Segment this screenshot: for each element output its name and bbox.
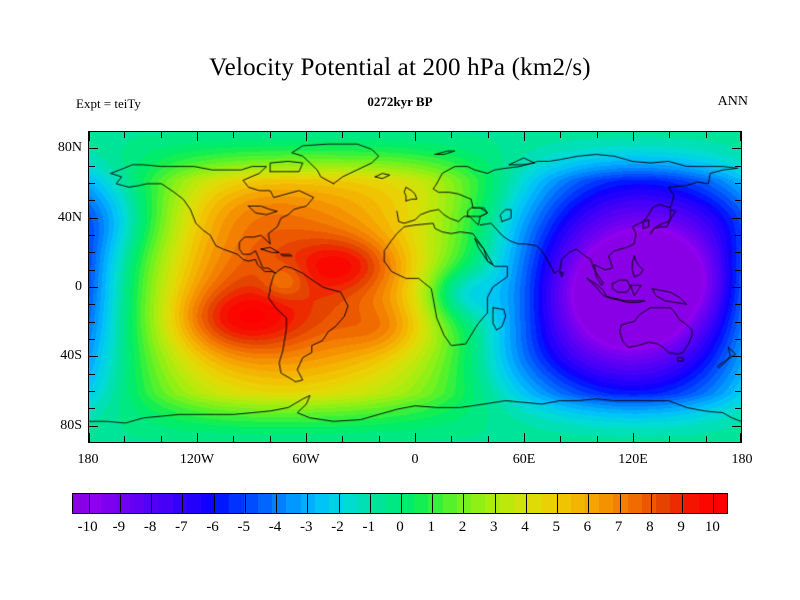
- colorbar-label--6: -6: [206, 519, 219, 536]
- colorbar-separator: [526, 494, 527, 513]
- colorbar-label-10: 10: [705, 519, 720, 536]
- lon-label-120E: 120E: [618, 452, 648, 468]
- lon-tick-top: [669, 132, 670, 138]
- colorbar-label-9: 9: [677, 519, 685, 536]
- lat-tick-left: [89, 218, 98, 219]
- colorbar-label--4: -4: [269, 519, 282, 536]
- colorbar-separator: [120, 494, 121, 513]
- lat-tick-right: [735, 408, 741, 409]
- lat-tick-right: [735, 322, 741, 323]
- lat-tick-right: [735, 304, 741, 305]
- colorbar-label--2: -2: [331, 519, 344, 536]
- colorbar-gradient: [72, 493, 728, 514]
- lon-tick-bottom: [633, 433, 634, 442]
- lat-tick-left: [89, 183, 95, 184]
- lon-tick-bottom: [379, 436, 380, 442]
- lat-tick-right: [732, 148, 741, 149]
- colorbar-separator: [432, 494, 433, 513]
- colorbar-cell: [343, 494, 357, 513]
- colorbar-cell: [386, 494, 400, 513]
- colorbar-cell: [116, 494, 130, 513]
- lon-tick-top: [597, 132, 598, 138]
- lon-label-60W: 60W: [292, 452, 319, 468]
- colorbar-label-7: 7: [615, 519, 623, 536]
- colorbar-cell: [258, 494, 272, 513]
- colorbar-separator: [401, 494, 402, 513]
- figure-root: Velocity Potential at 200 hPa (km2/s) 02…: [0, 0, 800, 600]
- colorbar-cell: [471, 494, 485, 513]
- lon-label-120W: 120W: [180, 452, 214, 468]
- colorbar-separator: [89, 494, 90, 513]
- colorbar-cell: [414, 494, 428, 513]
- colorbar-label-4: 4: [521, 519, 529, 536]
- colorbar-cell: [400, 494, 414, 513]
- lat-tick-left: [89, 166, 95, 167]
- lon-tick-top: [233, 132, 234, 138]
- lon-tick-top: [524, 132, 525, 141]
- lat-tick-right: [735, 374, 741, 375]
- lon-label-180: 180: [78, 452, 99, 468]
- lon-tick-bottom: [342, 436, 343, 442]
- lat-tick-right: [732, 426, 741, 427]
- colorbar-label-8: 8: [646, 519, 654, 536]
- colorbar-cell: [187, 494, 201, 513]
- lon-tick-top: [706, 132, 707, 138]
- lat-tick-left: [89, 304, 95, 305]
- lat-tick-left: [89, 252, 95, 253]
- lon-tick-bottom: [597, 436, 598, 442]
- lat-tick-right: [735, 183, 741, 184]
- colorbar-cell: [542, 494, 556, 513]
- colorbar-cell: [684, 494, 698, 513]
- experiment-label: Expt = teiTy: [76, 96, 141, 112]
- lon-label-0: 0: [412, 452, 419, 468]
- lon-tick-bottom: [524, 433, 525, 442]
- colorbar-separator: [245, 494, 246, 513]
- lat-tick-right: [735, 200, 741, 201]
- colorbar-separator: [182, 494, 183, 513]
- colorbar-separator: [557, 494, 558, 513]
- colorbar-label--5: -5: [238, 519, 251, 536]
- colorbar-cell: [315, 494, 329, 513]
- lon-tick-top: [197, 132, 198, 141]
- lon-tick-bottom: [415, 433, 416, 442]
- colorbar-cell: [73, 494, 87, 513]
- colorbar-label-3: 3: [490, 519, 498, 536]
- lon-tick-bottom: [161, 436, 162, 442]
- colorbar-label-1: 1: [427, 519, 435, 536]
- colorbar-label--8: -8: [144, 519, 157, 536]
- lon-tick-bottom: [306, 433, 307, 442]
- lat-tick-left: [89, 270, 95, 271]
- map-plot-area: [88, 131, 742, 443]
- colorbar-separator: [307, 494, 308, 513]
- colorbar-cell: [571, 494, 585, 513]
- colorbar-separator: [620, 494, 621, 513]
- colorbar-cell: [101, 494, 115, 513]
- lon-tick-top: [161, 132, 162, 138]
- colorbar: [72, 493, 728, 514]
- lat-tick-right: [732, 356, 741, 357]
- lon-label-60E: 60E: [513, 452, 536, 468]
- colorbar-separator: [151, 494, 152, 513]
- lat-tick-left: [89, 374, 95, 375]
- colorbar-cell: [500, 494, 514, 513]
- colorbar-cell: [528, 494, 542, 513]
- season-label: ANN: [718, 94, 748, 110]
- lat-tick-left: [89, 391, 95, 392]
- lat-tick-right: [732, 287, 741, 288]
- colorbar-separator: [682, 494, 683, 513]
- colorbar-separator: [463, 494, 464, 513]
- lat-tick-left: [89, 339, 95, 340]
- lat-tick-right: [735, 166, 741, 167]
- colorbar-cell: [272, 494, 286, 513]
- lat-label-40S: 40S: [60, 348, 82, 364]
- colorbar-cell: [372, 494, 386, 513]
- lat-tick-right: [735, 235, 741, 236]
- colorbar-label--7: -7: [175, 519, 188, 536]
- lon-tick-bottom: [669, 436, 670, 442]
- colorbar-cell: [286, 494, 300, 513]
- lon-tick-top: [270, 132, 271, 138]
- lat-tick-right: [735, 339, 741, 340]
- lon-tick-top: [488, 132, 489, 138]
- lat-tick-left: [89, 148, 98, 149]
- lon-tick-bottom: [124, 436, 125, 442]
- lat-tick-left: [89, 200, 95, 201]
- colorbar-cell: [556, 494, 570, 513]
- colorbar-label--3: -3: [300, 519, 313, 536]
- colorbar-separator: [339, 494, 340, 513]
- colorbar-cell: [229, 494, 243, 513]
- colorbar-cell: [443, 494, 457, 513]
- page-title: Velocity Potential at 200 hPa (km2/s): [0, 54, 800, 82]
- colorbar-label--9: -9: [113, 519, 126, 536]
- lon-tick-bottom: [706, 436, 707, 442]
- colorbar-separator: [370, 494, 371, 513]
- lon-tick-bottom: [197, 433, 198, 442]
- colorbar-cell: [642, 494, 656, 513]
- colorbar-cell: [628, 494, 642, 513]
- lat-label-0: 0: [75, 279, 82, 295]
- lat-tick-left: [89, 322, 95, 323]
- lon-tick-bottom: [740, 433, 741, 442]
- lat-tick-right: [732, 218, 741, 219]
- colorbar-label-2: 2: [459, 519, 467, 536]
- colorbar-cell: [215, 494, 229, 513]
- lon-tick-top: [451, 132, 452, 138]
- colorbar-cell: [713, 494, 727, 513]
- colorbar-label--1: -1: [363, 519, 376, 536]
- lat-label-80N: 80N: [58, 140, 82, 156]
- lon-tick-bottom: [451, 436, 452, 442]
- lon-tick-top: [124, 132, 125, 138]
- colorbar-cell: [173, 494, 187, 513]
- colorbar-separator: [276, 494, 277, 513]
- colorbar-separator: [495, 494, 496, 513]
- colorbar-cell: [656, 494, 670, 513]
- lat-tick-right: [735, 270, 741, 271]
- colorbar-label--10: -10: [78, 519, 98, 536]
- lon-tick-bottom: [89, 433, 90, 442]
- lon-tick-top: [379, 132, 380, 138]
- lon-label-180: 180: [732, 452, 753, 468]
- lat-tick-right: [735, 252, 741, 253]
- lon-tick-top: [342, 132, 343, 138]
- colorbar-cell: [485, 494, 499, 513]
- colorbar-label-6: 6: [584, 519, 592, 536]
- lat-tick-left: [89, 356, 98, 357]
- lat-tick-right: [735, 391, 741, 392]
- colorbar-separator: [651, 494, 652, 513]
- velocity-potential-heatmap: [89, 132, 741, 442]
- lon-tick-top: [740, 132, 741, 141]
- lat-label-80S: 80S: [60, 418, 82, 434]
- colorbar-separator: [713, 494, 714, 513]
- lat-tick-left: [89, 408, 95, 409]
- lat-label-40N: 40N: [58, 210, 82, 226]
- lon-tick-bottom: [270, 436, 271, 442]
- lon-tick-top: [560, 132, 561, 138]
- colorbar-cell: [428, 494, 442, 513]
- lon-tick-top: [633, 132, 634, 141]
- colorbar-cell: [599, 494, 613, 513]
- lon-tick-bottom: [488, 436, 489, 442]
- colorbar-cell: [585, 494, 599, 513]
- lon-tick-top: [415, 132, 416, 141]
- lon-tick-top: [89, 132, 90, 141]
- lat-tick-left: [89, 235, 95, 236]
- lon-tick-top: [306, 132, 307, 141]
- colorbar-label-0: 0: [396, 519, 404, 536]
- colorbar-cell: [329, 494, 343, 513]
- colorbar-cell: [699, 494, 713, 513]
- colorbar-separator: [588, 494, 589, 513]
- lat-tick-left: [89, 426, 98, 427]
- colorbar-cell: [158, 494, 172, 513]
- lon-tick-bottom: [233, 436, 234, 442]
- colorbar-label-5: 5: [552, 519, 560, 536]
- lon-tick-bottom: [560, 436, 561, 442]
- colorbar-cell: [130, 494, 144, 513]
- lat-tick-left: [89, 287, 98, 288]
- colorbar-separator: [214, 494, 215, 513]
